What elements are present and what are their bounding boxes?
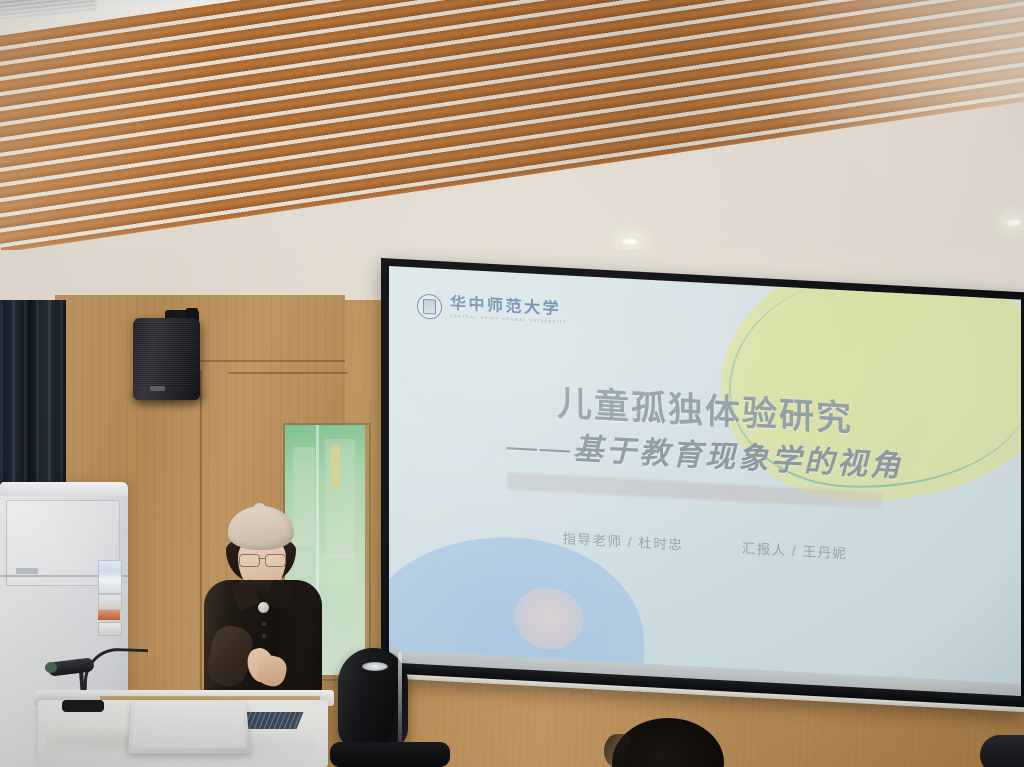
energy-efficiency-label — [98, 560, 122, 594]
audience-hair — [604, 734, 630, 767]
ceiling-downlight-icon — [620, 237, 640, 246]
microphone-base — [62, 700, 104, 712]
advisor-credit: 指导老师 / 杜时忠 — [562, 527, 683, 553]
ac-info-sticker — [98, 622, 122, 636]
office-chair-seat — [330, 742, 450, 767]
jacket-button — [262, 634, 266, 638]
brooch-icon — [258, 602, 269, 613]
eyeglasses-icon — [238, 554, 286, 565]
ac-top-panel — [0, 482, 128, 496]
podium-monitor-screen[interactable] — [132, 702, 245, 748]
panel-seam — [228, 372, 348, 374]
university-emblem-icon — [417, 293, 442, 319]
lecture-room-photo: 华中师范大学 CENTRAL CHINA NORMAL UNIVERSITY 儿… — [0, 0, 1024, 767]
presenter-beret — [228, 506, 294, 550]
ac-brand-logo — [16, 568, 38, 574]
projection-screen[interactable]: 华中师范大学 CENTRAL CHINA NORMAL UNIVERSITY 儿… — [389, 266, 1021, 700]
panel-seam — [175, 360, 345, 362]
presentation-slide: 华中师范大学 CENTRAL CHINA NORMAL UNIVERSITY 儿… — [389, 266, 1021, 700]
emblem-inner-shape — [423, 299, 436, 315]
speaker-grille — [137, 322, 196, 386]
beret-nub — [254, 503, 265, 511]
university-logo: 华中师范大学 CENTRAL CHINA NORMAL UNIVERSITY — [417, 293, 567, 326]
speaker-badge — [150, 386, 165, 391]
office-chair-second — [980, 735, 1024, 767]
chair-reflection — [362, 662, 388, 671]
ceiling-downlight-icon — [1004, 218, 1024, 227]
credit-spacer — [689, 550, 737, 553]
chair-edge-highlight — [398, 652, 402, 746]
presenter-credit: 汇报人 / 王丹妮 — [742, 537, 848, 563]
ac-warning-sticker — [98, 610, 120, 620]
ac-sticker — [98, 594, 122, 610]
jacket-button — [262, 622, 266, 626]
